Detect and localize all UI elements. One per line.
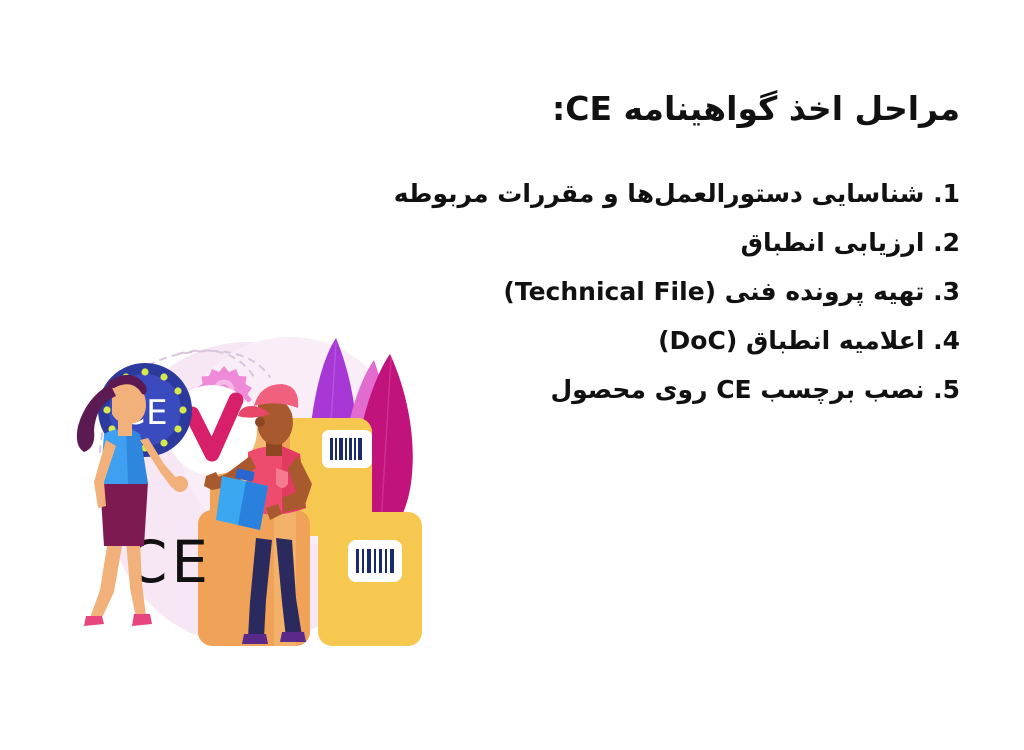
courier-shoe-right [280, 632, 306, 642]
page-title: مراحل اخذ گواهینامه CE: [360, 88, 960, 129]
slide-canvas: مراحل اخذ گواهینامه CE: 1. شناسایی دستور… [0, 0, 1024, 750]
woman-shoe-back [84, 616, 104, 626]
list-item: 2. ارزیابی انطباق [360, 230, 960, 255]
woman-skirt [100, 482, 148, 546]
ce-marking-illustration: CE [60, 322, 460, 662]
courier-ear [255, 417, 265, 427]
courier-shoe-left [242, 634, 268, 644]
list-item: 1. شناسایی دستورالعمل‌ها و مقررات مربوطه [360, 181, 960, 206]
barcode-label-top [322, 430, 372, 468]
barcode-label-bottom [348, 540, 402, 582]
list-item: 3. تهیه پرونده فنی (Technical File) [360, 279, 960, 304]
woman-leg-back [90, 540, 122, 622]
woman-hand [172, 476, 188, 492]
woman-shoe-front [132, 614, 152, 626]
